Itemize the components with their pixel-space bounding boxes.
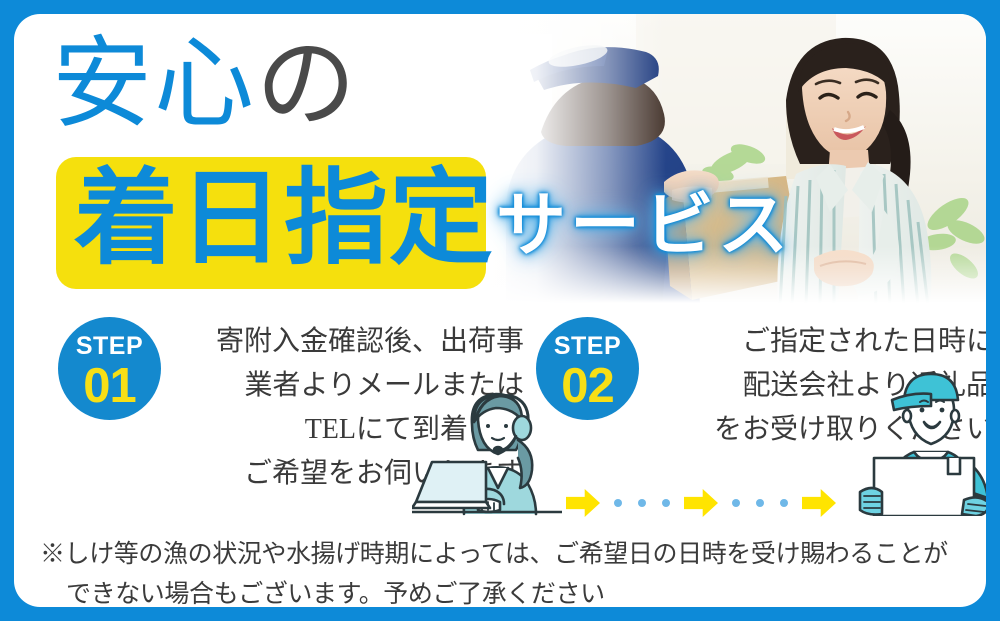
step-1-line-1: 寄附入金確認後、出荷事 xyxy=(164,320,524,364)
step-2-line-1: ご指定された日時に xyxy=(634,320,986,364)
arrow-right-icon xyxy=(566,489,600,517)
step-1-badge: STEP 01 xyxy=(58,317,161,420)
disclaimer-line-1: ※しけ等の漁の状況や水揚げ時期によっては、ご希望日の日時を受け賜わることが xyxy=(40,534,970,574)
headline-service-word: サービス xyxy=(496,192,792,262)
headline-highlight-box: 着日指定 xyxy=(56,157,486,289)
courier-illustration xyxy=(852,366,986,516)
dot-icon xyxy=(662,499,670,507)
dot-icon xyxy=(780,499,788,507)
headline-block: 安心の 着日指定 xyxy=(14,14,534,304)
step-2-badge: STEP 02 xyxy=(536,317,639,420)
dot-icon xyxy=(638,499,646,507)
arrow-dots-group-2 xyxy=(718,499,802,507)
headline-chakujitsu-shitei: 着日指定 xyxy=(74,153,494,285)
progress-arrows xyxy=(566,486,832,520)
disclaimer-line-2: できない場合もございます。予めご了承ください xyxy=(40,574,970,607)
arrow-dots-group-1 xyxy=(600,499,684,507)
arrow-right-icon xyxy=(684,489,718,517)
step-2-keyword: STEP xyxy=(536,317,639,359)
step-2-number: 02 xyxy=(536,362,639,411)
dot-icon xyxy=(732,499,740,507)
headline-anshin: 安心 xyxy=(52,29,256,140)
headline-no: の xyxy=(256,29,358,140)
dot-icon xyxy=(614,499,622,507)
banner-inner-card: 安心の 着日指定 サービス STEP 01 寄附入金確認後、出荷事 業者よりメー… xyxy=(14,14,986,607)
dot-icon xyxy=(756,499,764,507)
arrow-right-icon xyxy=(802,489,836,517)
promo-banner: 安心の 着日指定 サービス STEP 01 寄附入金確認後、出荷事 業者よりメー… xyxy=(0,0,1000,621)
disclaimer-note: ※しけ等の漁の状況や水揚げ時期によっては、ご希望日の日時を受け賜わることが でき… xyxy=(40,534,970,607)
headline-line-1: 安心の xyxy=(52,32,358,138)
step-1-number: 01 xyxy=(58,362,161,411)
step-1-keyword: STEP xyxy=(58,317,161,359)
